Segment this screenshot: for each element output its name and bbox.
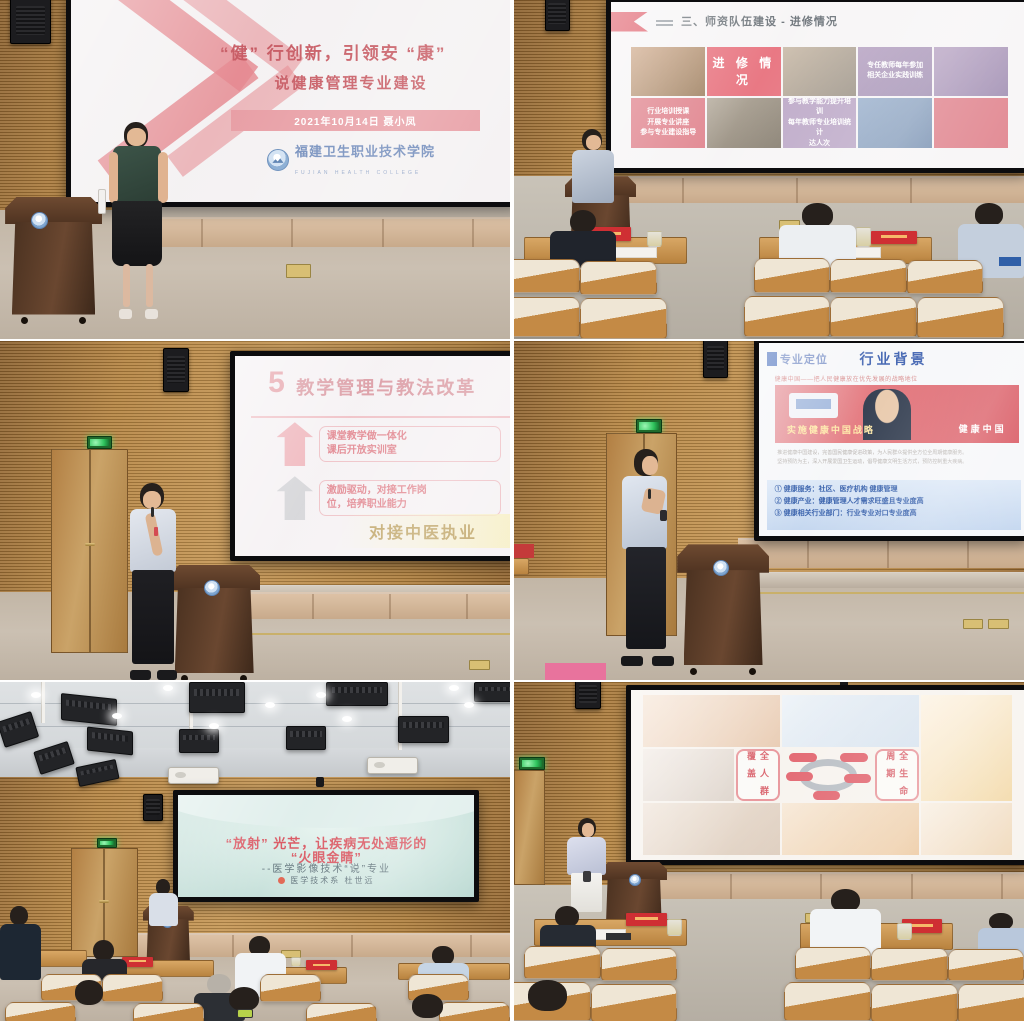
presenter — [102, 122, 173, 319]
floor-outlet — [963, 619, 983, 629]
tile-photo — [707, 98, 781, 148]
tile-photo — [858, 98, 932, 148]
tile-text-label: 参与教学能力提升培训 每年教师专业培训统计 达人次 — [783, 98, 857, 148]
nameplate — [871, 231, 917, 245]
tile-center-label: 进 修 情 况 — [707, 47, 781, 97]
seat — [907, 260, 984, 294]
water-bottle — [667, 919, 682, 936]
slide-photo-grid: 全 人 群 覆 盖 全 生 命 周 期 — [643, 695, 1012, 855]
college-crest-icon — [267, 149, 289, 171]
tile-text: 参与教学能力提升培训 每年教师专业培训统计 达人次 — [783, 98, 857, 148]
slide-header: 三、师资队伍建设 - 进修情况 — [681, 13, 838, 29]
slide-lede: 健康中国——把人民健康放在优先发展的战略地位 — [775, 374, 1017, 383]
seat-row — [514, 946, 1024, 1021]
seat — [917, 297, 1004, 338]
slide-tile-grid: 进 修 情 况 专任教师每年参加 相关企业实践训练 行业培训授课 开展专业讲座 … — [631, 47, 1007, 148]
seat — [524, 946, 601, 979]
tile-text: 行业培训授课 开展专业讲座 参与专业建设指导 — [631, 98, 705, 148]
water-bottle — [647, 231, 662, 248]
seat — [830, 297, 917, 338]
presenter — [565, 818, 611, 913]
plate-left-text: 全 人 群 覆 盖 — [745, 751, 771, 799]
stage-light-icon — [61, 693, 117, 726]
exit-sign-icon — [87, 436, 113, 450]
seat — [871, 948, 948, 981]
exit-sign-icon — [97, 838, 117, 848]
wall-dado — [133, 217, 510, 248]
seat — [306, 1003, 377, 1021]
stage-light-icon — [286, 726, 327, 750]
panel-mid-right: 专业定位 行业背景 健康中国——把人民健康放在优先发展的战略地位 实施健康中国战… — [514, 341, 1024, 680]
college-crest-icon — [629, 874, 641, 886]
slide-line-3: --医学影像技术“说”专业 — [190, 860, 462, 875]
projector-icon — [168, 767, 219, 784]
slide-date-bar: 2021年10月14日 聂小凤 — [231, 110, 480, 131]
seat — [795, 947, 872, 980]
panel-bottom-right: 全 人 群 覆 盖 全 生 命 周 期 — [514, 682, 1024, 1021]
college-crest-icon — [713, 560, 729, 576]
ceiling-speaker-icon — [163, 348, 189, 392]
seat — [744, 296, 831, 337]
attendee — [0, 906, 41, 981]
stage-light-icon — [179, 729, 220, 753]
stage-light-icon — [474, 682, 510, 702]
door — [51, 449, 128, 652]
callout-text: 课堂教学做一体化 课后开放实训室 — [327, 430, 407, 459]
panel-top-right: 三、师资队伍建设 - 进修情况 进 修 情 况 专任教师每年参加 相关企业实践训… — [514, 0, 1024, 339]
slide-faculty-training: 三、师资队伍建设 - 进修情况 进 修 情 况 专任教师每年参加 相关企业实践训… — [611, 2, 1024, 168]
callout-bubble: 课堂教学做一体化 课后开放实训室 — [319, 426, 501, 462]
light-pole — [41, 682, 45, 723]
cell-photo — [921, 695, 1012, 801]
panel-bottom-left: “放射” 光芒，让疾病无处遁形的 “火眼金睛” --医学影像技术“说”专业 医学… — [0, 682, 510, 1021]
presenter — [148, 879, 179, 926]
arrow-up-icon — [277, 476, 313, 520]
plate-left: 全 人 群 覆 盖 — [736, 749, 780, 801]
slide-teaching-reform: 5 教学管理与教法改革 课堂教学做一体化 课后开放实训室 激励驱动，对接工作岗 … — [235, 356, 511, 556]
college-name-en: FUJIAN HEALTH COLLEGE — [295, 170, 421, 176]
tile-text-label: 行业培训授课 开展专业讲座 参与专业建设指导 — [638, 105, 698, 141]
stage-light-icon — [398, 716, 449, 743]
slide-highlight-box: ① 健康服务：社区、医疗机构 健康管理 ② 健康产业：健康管理人才需求旺盛且专业… — [767, 480, 1022, 530]
presenter — [122, 483, 183, 680]
slide-presenter-text: 医学技术系 杜世远 — [290, 875, 374, 886]
microphone-icon — [151, 507, 154, 517]
arrow-up-icon — [277, 422, 313, 466]
floor-outlet — [469, 660, 489, 670]
seat — [601, 948, 678, 981]
stage-edge — [749, 572, 1024, 589]
cell-photo — [643, 803, 780, 855]
college-crest-icon — [204, 580, 220, 596]
phone-screen — [237, 1009, 253, 1018]
cell-photo — [921, 803, 1012, 855]
attendee — [514, 980, 585, 1021]
podium — [677, 544, 769, 673]
slide-footer: 对接中医执业 — [341, 514, 510, 548]
badge-graphic — [789, 393, 838, 417]
seat — [871, 984, 958, 1021]
clicker-remote — [583, 871, 590, 882]
college-name-cn: 福建卫生职业技术学院 — [295, 144, 435, 159]
banner-text-right: 健康中国 — [959, 422, 1007, 435]
nameplate — [626, 913, 667, 927]
callout-bubble: 激励驱动，对接工作岗 位，培养职业能力 — [319, 480, 501, 516]
wall-dado — [235, 592, 510, 619]
seat — [133, 1003, 204, 1021]
seat — [514, 297, 580, 338]
ceiling-speaker-icon — [575, 682, 601, 709]
cell-photo — [643, 749, 734, 801]
exit-sign-icon — [519, 757, 545, 771]
cell-photo — [643, 695, 780, 747]
attendee — [61, 980, 117, 1021]
exit-sign-icon — [636, 419, 662, 433]
attendee — [214, 987, 275, 1021]
slide-header: 教学管理与教法改革 — [296, 374, 476, 400]
seat — [948, 949, 1024, 982]
plate-right-text: 全 生 命 周 期 — [884, 751, 910, 799]
slide-subtitle: 说健康管理专业建设 — [204, 72, 497, 93]
slide-body-text: 推进健康中国建设，完善国民健康促进政策，为人民群众提供全方位全周期健康服务。 坚… — [777, 449, 1013, 468]
panel-mid-left: 5 教学管理与教法改革 课堂教学做一体化 课后开放实训室 激励驱动，对接工作岗 … — [0, 341, 510, 680]
projection-screen: 5 教学管理与教法改革 课堂教学做一体化 课后开放实训室 激励驱动，对接工作岗 … — [230, 351, 511, 561]
ceiling-speaker-icon — [143, 794, 163, 821]
projection-screen: 全 人 群 覆 盖 全 生 命 周 期 — [626, 685, 1024, 865]
projection-screen: 专业定位 行业背景 健康中国——把人民健康放在优先发展的战略地位 实施健康中国战… — [754, 341, 1024, 541]
bullet-dot-icon — [278, 877, 285, 884]
desk — [514, 558, 529, 575]
clicker-remote — [98, 189, 107, 215]
podium — [5, 197, 102, 322]
seat — [591, 984, 678, 1021]
presenter — [616, 449, 677, 666]
ceiling-speaker-icon — [10, 0, 51, 44]
floor-outlet — [988, 619, 1008, 629]
tile-text-label: 专任教师每年参加 相关企业实践训练 — [865, 59, 925, 84]
stage-light-icon — [326, 682, 387, 706]
tile-photo — [934, 98, 1008, 148]
projection-screen: “放射” 光芒，让疾病无处遁形的 “火眼金睛” --医学影像技术“说”专业 医学… — [173, 790, 479, 902]
ring-pill — [789, 753, 816, 762]
photo-collage: “健” 行创新，引领安 “康” 说健康管理专业建设 2021年10月14日 聂小… — [0, 0, 1024, 1023]
seat-row — [514, 258, 1024, 339]
callout-text: 激励驱动，对接工作岗 位，培养职业能力 — [327, 484, 427, 513]
ceiling-speaker-icon — [545, 0, 571, 31]
seat — [580, 298, 667, 339]
cycle-ring-diagram — [782, 749, 873, 801]
nameplate — [306, 960, 337, 970]
college-crest-icon — [31, 212, 48, 229]
section-number: 5 — [268, 368, 285, 398]
seat — [514, 259, 580, 293]
attendee — [398, 994, 459, 1021]
slide-presenter-line: 医学技术系 杜世远 — [178, 875, 474, 886]
tile-text: 专任教师每年参加 相关企业实践训练 — [858, 47, 932, 97]
seat — [580, 261, 657, 295]
floor-outlet — [286, 264, 312, 278]
clicker-remote — [660, 510, 667, 521]
tile-photo — [934, 47, 1008, 97]
slide-footer-text: 对接中医执业 — [341, 519, 477, 543]
slide-title: “健” 行创新，引领安 “康” — [169, 39, 497, 64]
camera-icon — [316, 777, 324, 787]
plate-right: 全 生 命 周 期 — [875, 749, 919, 801]
pink-banner — [545, 663, 606, 680]
panel-top-left: “健” 行创新，引领安 “康” 说健康管理专业建设 2021年10月14日 聂小… — [0, 0, 510, 339]
slide-highlight-text: ① 健康服务：社区、医疗机构 健康管理 ② 健康产业：健康管理人才需求旺盛且专业… — [767, 480, 1022, 524]
ring-pill — [813, 791, 840, 800]
tile-photo — [631, 47, 705, 97]
seat — [784, 982, 871, 1021]
slide-industry-background: 专业定位 行业背景 健康中国——把人民健康放在优先发展的战略地位 实施健康中国战… — [759, 343, 1024, 536]
college-crest-icon — [313, 802, 339, 828]
seat — [958, 984, 1024, 1021]
projector-icon — [367, 757, 418, 774]
slide-radiology-title: “放射” 光芒，让疾病无处遁形的 “火眼金睛” --医学影像技术“说”专业 医学… — [178, 795, 474, 897]
slide-banner: 实施健康中国战略 健康中国 — [775, 385, 1019, 443]
slide-tag-label: 专业定位 — [780, 351, 828, 367]
slide-health-coverage: 全 人 群 覆 盖 全 生 命 周 期 — [631, 690, 1024, 860]
ceiling-speaker-icon — [703, 341, 729, 378]
water-bottle — [897, 923, 912, 940]
ring-pill — [786, 772, 813, 781]
seat — [754, 258, 831, 292]
door — [514, 770, 545, 885]
cable-run — [759, 592, 1024, 594]
cell-photo — [782, 803, 919, 855]
projection-screen: 三、师资队伍建设 - 进修情况 进 修 情 况 专任教师每年参加 相关企业实践训… — [606, 0, 1024, 173]
slide-header: 行业背景 — [860, 349, 928, 369]
ring-pill — [840, 753, 867, 762]
water-bottle — [856, 227, 871, 247]
phone — [606, 933, 632, 940]
microphone-icon — [648, 489, 651, 499]
seat — [830, 259, 907, 293]
stage-light-icon — [189, 682, 245, 713]
red-box — [514, 544, 534, 558]
ring-pill — [844, 774, 871, 783]
tile-photo — [783, 47, 857, 97]
lapel-badge — [154, 527, 158, 537]
wall-dado — [738, 538, 1024, 569]
banner-text-left: 实施健康中国战略 — [787, 423, 875, 436]
cable-run — [245, 633, 510, 635]
wall-dado — [585, 176, 1024, 203]
college-identity: 福建卫生职业技术学院 FUJIAN HEALTH COLLEGE — [213, 141, 488, 179]
water-bottle — [291, 957, 301, 967]
presenter — [570, 129, 616, 204]
cell-photo — [782, 695, 919, 747]
paper-notes — [611, 247, 657, 257]
